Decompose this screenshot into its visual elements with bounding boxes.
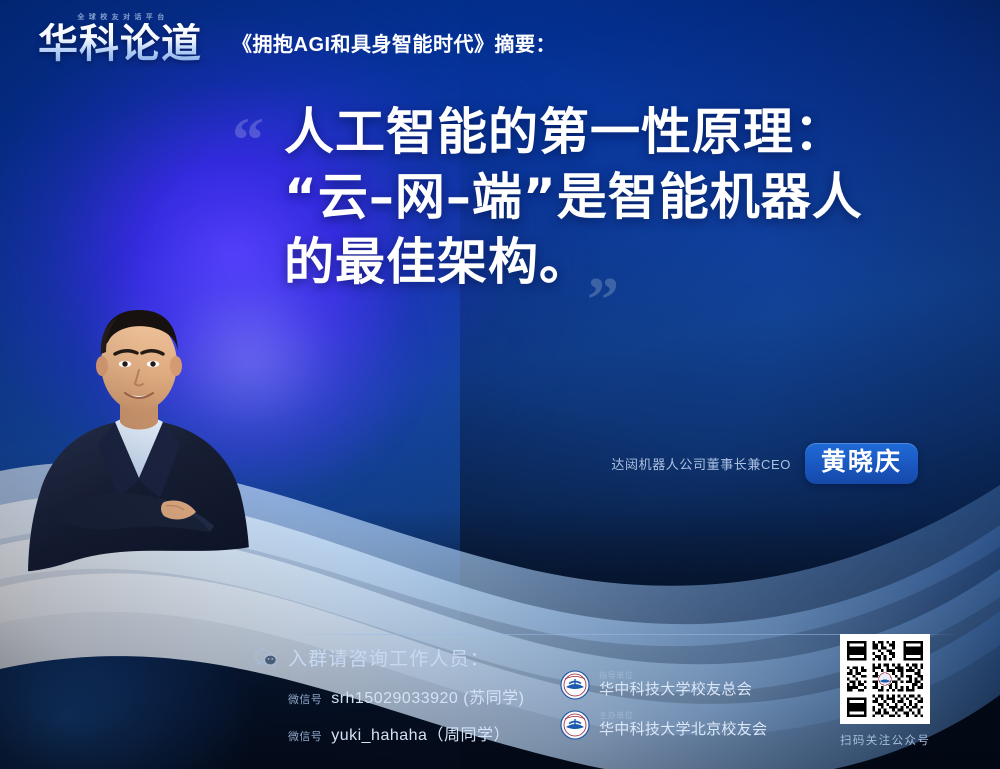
organization-item: 主办单位 华中科技大学北京校友会: [560, 710, 767, 740]
organization-text: 指导单位 华中科技大学校友总会: [599, 672, 752, 697]
quote-text: 人工智能的第一性原理： “云–网–端”是智能机器人 的最佳架构。: [284, 100, 972, 295]
organization-text: 主办单位 华中科技大学北京校友会: [599, 712, 767, 737]
speaker-name-badge: 黄晓庆: [805, 443, 918, 484]
qr-code-image[interactable]: [840, 634, 930, 724]
organization-name: 华中科技大学校友总会: [599, 682, 752, 698]
poster-canvas: 全球校友对话平台 华科论道 《拥抱AGI和具身智能时代》摘要： “ ” 人工智能…: [0, 0, 1000, 769]
university-seal-icon: [560, 710, 590, 740]
qr-block: 扫码关注公众号: [840, 634, 930, 748]
speaker-role: 达闼机器人公司董事长兼CEO: [611, 454, 791, 473]
quote-line-2: “云–网–端”是智能机器人: [284, 165, 972, 230]
qr-caption: 扫码关注公众号: [840, 732, 930, 748]
university-seal-icon: [560, 670, 590, 700]
contact-label: 微信号: [288, 691, 322, 707]
quote-open-mark: “: [232, 108, 264, 172]
logo-wordmark: 华科论道: [22, 23, 218, 65]
page-title: 《拥抱AGI和具身智能时代》摘要：: [232, 28, 556, 65]
header: 全球校友对话平台 华科论道 《拥抱AGI和具身智能时代》摘要：: [22, 12, 556, 65]
contact-value[interactable]: yuki_hahaha（周同学）: [331, 721, 510, 745]
quote-block: “ ” 人工智能的第一性原理： “云–网–端”是智能机器人 的最佳架构。: [232, 100, 972, 295]
footer-heading: 入群请咨询工作人员：: [288, 644, 490, 671]
quote-line-1: 人工智能的第一性原理：: [284, 100, 972, 165]
quote-line-3: 的最佳架构。: [284, 230, 972, 295]
organization-kind: 主办单位: [599, 712, 767, 720]
wechat-icon: [254, 648, 278, 668]
organization-name: 华中科技大学北京校友会: [599, 722, 767, 738]
organization-list: 指导单位 华中科技大学校友总会 主办单位 华中科技大学北京校友会: [560, 670, 767, 750]
contact-label: 微信号: [288, 728, 322, 744]
contact-value[interactable]: srh15029033920 (苏同学): [331, 684, 524, 708]
brand-logo[interactable]: 全球校友对话平台 华科论道: [22, 12, 218, 65]
organization-kind: 指导单位: [599, 672, 752, 680]
speaker-attribution: 达闼机器人公司董事长兼CEO 黄晓庆: [611, 443, 918, 484]
organization-item: 指导单位 华中科技大学校友总会: [560, 670, 767, 700]
